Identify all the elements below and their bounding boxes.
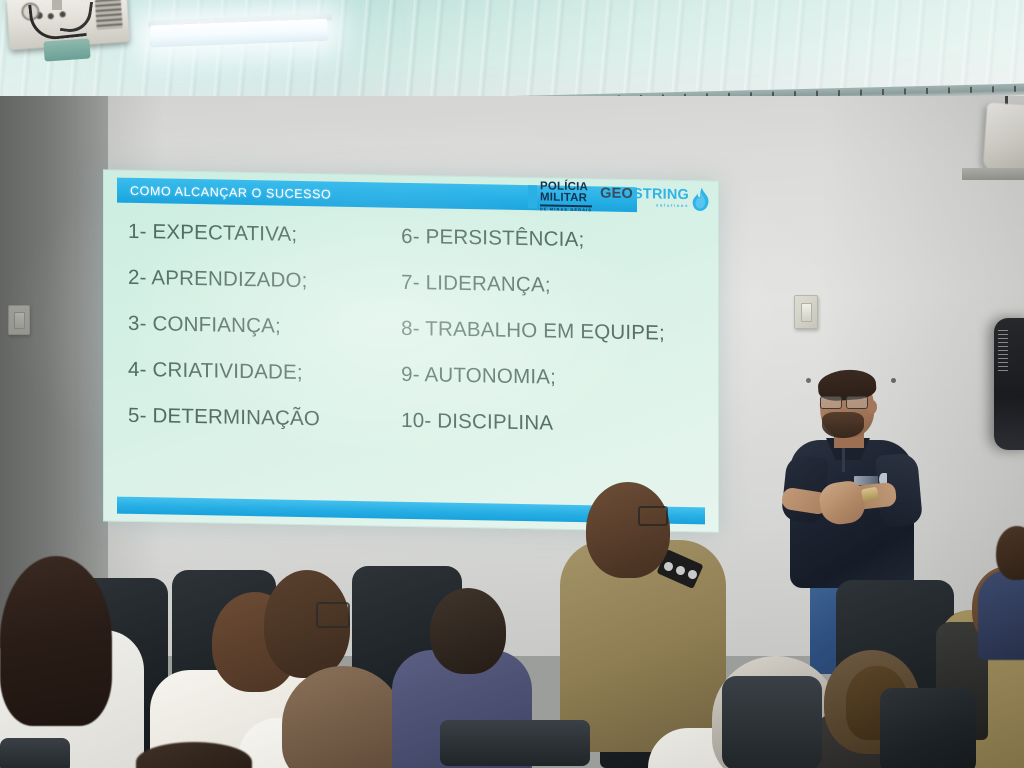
slide-bullet: 8- TRABALHO EM EQUIPE; bbox=[401, 317, 719, 347]
attendee-hair bbox=[0, 556, 112, 726]
slide-logos: POLÍCIA MILITAR DE MINAS GERAIS GEOSTRIN… bbox=[528, 181, 711, 214]
glasses-lens bbox=[846, 396, 868, 409]
slide-bullet: 9- AUTONOMIA; bbox=[401, 363, 719, 393]
projector-lens bbox=[43, 38, 90, 61]
officer-glasses bbox=[638, 506, 668, 526]
attendee-head bbox=[996, 526, 1024, 580]
auditorium-chair bbox=[880, 688, 976, 768]
slide-bullet: 10- DISCIPLINA bbox=[401, 409, 719, 439]
slide-column-left: 1- EXPECTATIVA; 2- APRENDIZADO; 3- CONFI… bbox=[103, 219, 401, 454]
slide-title: COMO ALCANÇAR O SUCESSO bbox=[117, 183, 331, 201]
flame-icon bbox=[691, 186, 711, 212]
slide-bullet: 7- LIDERANÇA; bbox=[401, 271, 719, 301]
police-logo: POLÍCIA MILITAR DE MINAS GERAIS bbox=[528, 181, 592, 213]
chair-armrest bbox=[722, 676, 822, 768]
attendee-head bbox=[430, 588, 506, 674]
slide-body: 1- EXPECTATIVA; 2- APRENDIZADO; 3- CONFI… bbox=[103, 219, 719, 460]
police-logo-line2: MILITAR bbox=[540, 193, 592, 208]
slide-bullet: 3- CONFIANÇA; bbox=[128, 312, 401, 341]
slide-bullet: 6- PERSISTÊNCIA; bbox=[401, 225, 719, 255]
presenter-beard bbox=[822, 412, 864, 438]
attendee-top bbox=[978, 570, 1024, 660]
audience bbox=[0, 470, 1024, 768]
presenter-placket bbox=[842, 446, 845, 472]
slide-bullet: 2- APRENDIZADO; bbox=[128, 266, 401, 295]
projector-vent bbox=[95, 0, 123, 30]
glasses-lens bbox=[820, 396, 842, 409]
slide-column-right: 6- PERSISTÊNCIA; 7- LIDERANÇA; 8- TRABAL… bbox=[401, 225, 719, 461]
presenter-glasses bbox=[820, 396, 870, 407]
slide-bullet: 5- DETERMINAÇÃO bbox=[128, 404, 401, 433]
auditorium-photo-scene: COMO ALCANÇAR O SUCESSO POLÍCIA MILITAR … bbox=[0, 0, 1024, 768]
company-logo-part2: STRING bbox=[633, 186, 689, 203]
officer-head bbox=[586, 482, 670, 578]
slide-bullet: 1- EXPECTATIVA; bbox=[128, 220, 401, 249]
attendee-glasses-frame bbox=[316, 602, 350, 628]
police-shield-bar-icon bbox=[528, 185, 537, 208]
company-logo: GEOSTRING solutions bbox=[600, 185, 711, 212]
chair-armrest bbox=[440, 720, 590, 766]
company-logo-tagline: solutions bbox=[600, 202, 689, 208]
slide-bullet: 4- CRIATIVIDADE; bbox=[128, 358, 401, 387]
chair-armrest bbox=[0, 738, 70, 768]
police-logo-line3: DE MINAS GERAIS bbox=[540, 208, 592, 213]
company-logo-part1: GEO bbox=[600, 185, 633, 202]
